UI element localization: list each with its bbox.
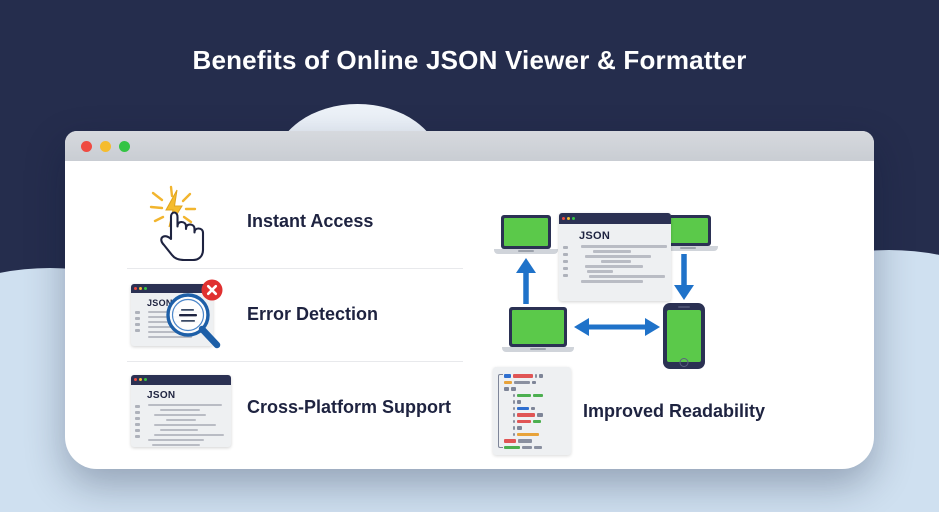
- laptop-bottom-left: [509, 307, 567, 352]
- minimize-icon[interactable]: [100, 141, 111, 152]
- syntax-highlighted-code-icon: [493, 367, 571, 455]
- feature-list: Instant Access JSON: [65, 161, 485, 469]
- json-editor-window-icon: JSON: [127, 369, 231, 447]
- feature-label: Cross-Platform Support: [247, 397, 451, 418]
- feature-label: Improved Readability: [583, 401, 765, 422]
- error-badge-icon: [200, 278, 224, 302]
- feature-row-instant-access[interactable]: Instant Access: [65, 175, 485, 268]
- arrow-bidirectional: [573, 316, 661, 338]
- feature-row-error-detection[interactable]: JSON: [65, 268, 485, 361]
- page-title: Benefits of Online JSON Viewer & Formatt…: [0, 45, 939, 76]
- center-json-window: JSON: [559, 213, 671, 301]
- window-content: Instant Access JSON: [65, 161, 874, 469]
- phone-bottom-right: [663, 303, 705, 369]
- laptop-top-left: [501, 215, 551, 254]
- feature-row-cross-platform-support[interactable]: JSON: [65, 361, 485, 454]
- arrow-up-left: [515, 257, 537, 305]
- arrow-down-right: [673, 253, 695, 301]
- json-window-magnifier-error-icon: JSON: [127, 276, 231, 354]
- laptop-top-right: [665, 215, 711, 251]
- maximize-icon[interactable]: [119, 141, 130, 152]
- feature-label: Error Detection: [247, 304, 378, 325]
- window-title-bar: [65, 131, 874, 161]
- browser-window-card: Instant Access JSON: [65, 131, 874, 469]
- click-hand-lightning-icon: [127, 183, 231, 261]
- close-icon[interactable]: [81, 141, 92, 152]
- center-json-title: JSON: [579, 230, 665, 242]
- cross-platform-device-diagram: JSON: [495, 211, 725, 371]
- right-column: JSON: [485, 161, 874, 469]
- feature-label: Instant Access: [247, 211, 373, 232]
- feature-row-improved-readability[interactable]: Improved Readability: [485, 367, 874, 455]
